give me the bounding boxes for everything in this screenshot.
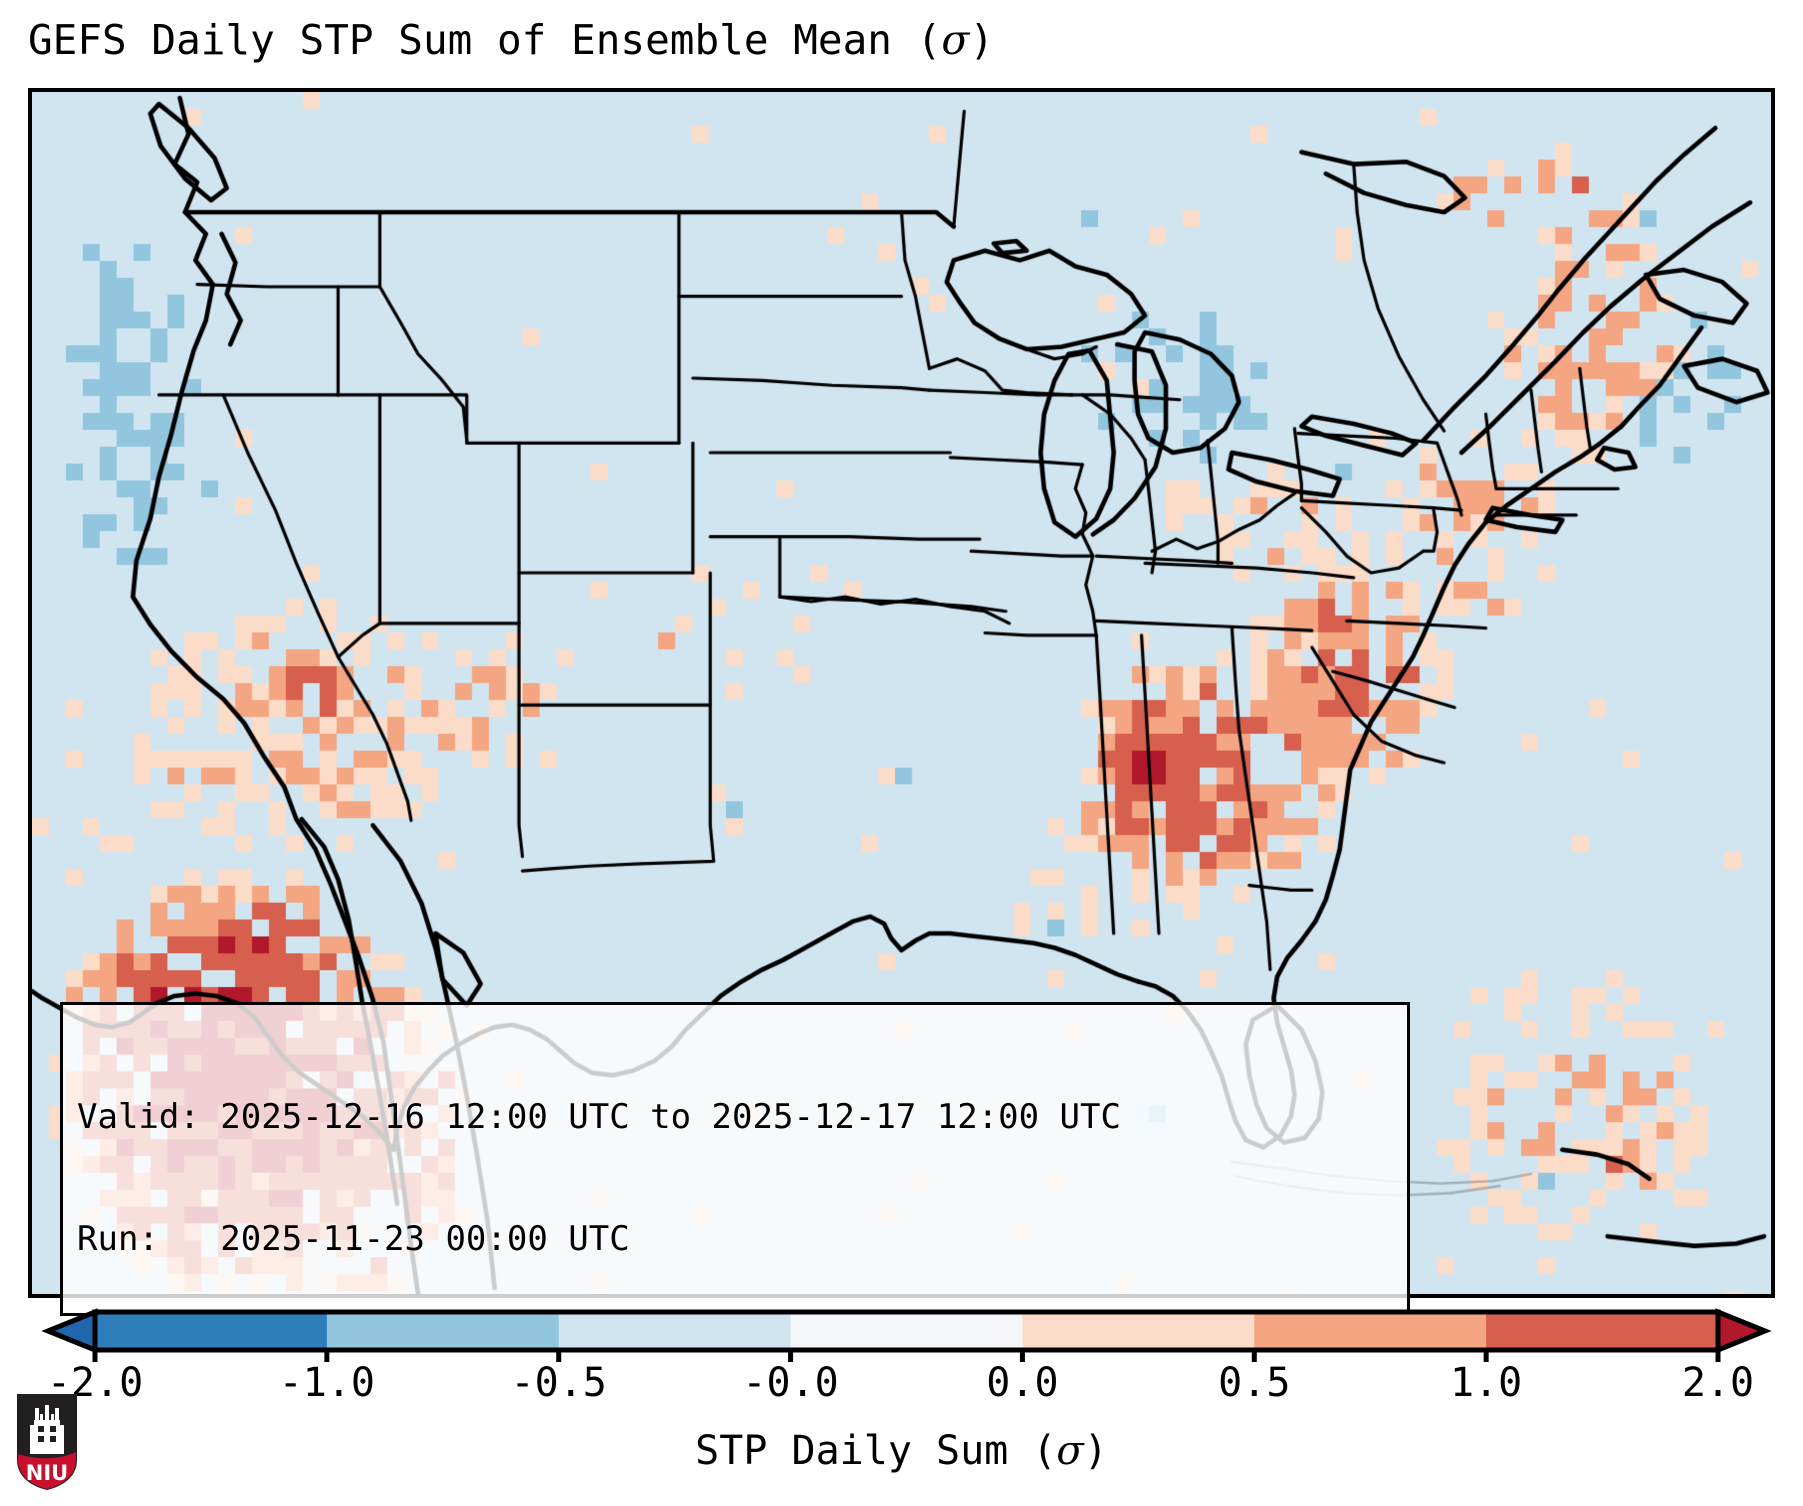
colorbar-tick-3: -0.0 — [742, 1360, 838, 1406]
colorbar-tick-6: 1.0 — [1450, 1360, 1522, 1406]
page-title-suffix: ) — [969, 16, 994, 64]
colorbar-sigma-symbol: σ — [1056, 1428, 1083, 1474]
colorbar-swatches — [0, 1306, 1803, 1362]
colorbar-tick-5: 0.5 — [1218, 1360, 1290, 1406]
annotation-run-line: Run: 2025-11-23 00:00 UTC — [77, 1219, 1393, 1260]
colorbar-axis-label: STP Daily Sum (σ) — [0, 1428, 1803, 1474]
colorbar-label-suffix: ) — [1084, 1428, 1108, 1474]
colorbar-tick-labels: -2.0-1.0-0.5-0.00.00.51.02.0 — [0, 1360, 1803, 1420]
colorbar-tick-1: -1.0 — [279, 1360, 375, 1406]
valid-run-annotation: Valid: 2025-12-16 12:00 UTC to 2025-12-1… — [60, 1002, 1410, 1316]
colorbar-tick-2: -0.5 — [511, 1360, 607, 1406]
colorbar-tick-4: 0.0 — [986, 1360, 1058, 1406]
niu-logo: NIU — [14, 1392, 80, 1492]
logo-label: NIU — [26, 1461, 68, 1485]
page-title-text: GEFS Daily STP Sum of Ensemble Mean ( — [28, 16, 941, 64]
colorbar-label-text: STP Daily Sum ( — [695, 1428, 1056, 1474]
colorbar-tick-7: 2.0 — [1682, 1360, 1754, 1406]
colorbar — [0, 1306, 1803, 1362]
annotation-valid-line: Valid: 2025-12-16 12:00 UTC to 2025-12-1… — [77, 1097, 1393, 1138]
page-title: GEFS Daily STP Sum of Ensemble Mean (σ) — [28, 16, 994, 64]
sigma-symbol: σ — [941, 16, 969, 64]
